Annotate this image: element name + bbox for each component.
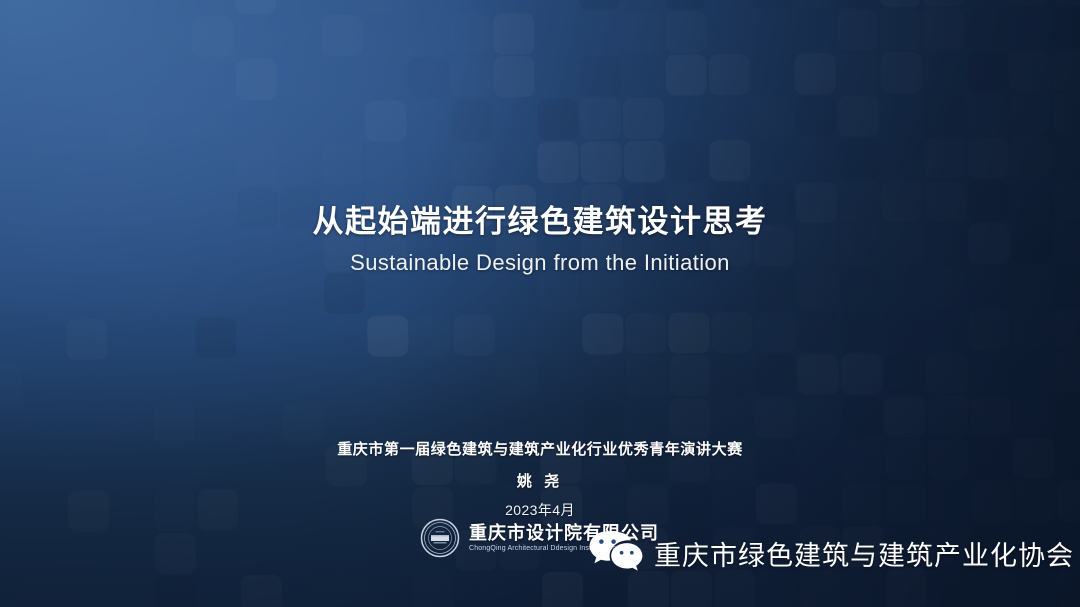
page-subtitle: Sustainable Design from the Initiation <box>0 249 1080 278</box>
title-slide: 从起始端进行绿色建筑设计思考 Sustainable Design from t… <box>0 0 1080 607</box>
circular-seal-emblem-icon <box>420 518 460 558</box>
page-title: 从起始端进行绿色建筑设计思考 <box>0 202 1080 242</box>
title-block: 从起始端进行绿色建筑设计思考 Sustainable Design from t… <box>0 202 1080 277</box>
wechat-icon <box>588 528 644 578</box>
wechat-watermark: 重庆市绿色建筑与建筑产业化协会 <box>588 528 1074 578</box>
event-name: 重庆市第一届绿色建筑与建筑产业化行业优秀青年演讲大赛 <box>0 440 1080 460</box>
presentation-meta-block: 重庆市第一届绿色建筑与建筑产业化行业优秀青年演讲大赛 姚 尧 2023年4月 <box>0 440 1080 520</box>
wechat-association-label: 重庆市绿色建筑与建筑产业化协会 <box>654 534 1074 573</box>
speaker-name: 姚 尧 <box>0 470 1080 491</box>
